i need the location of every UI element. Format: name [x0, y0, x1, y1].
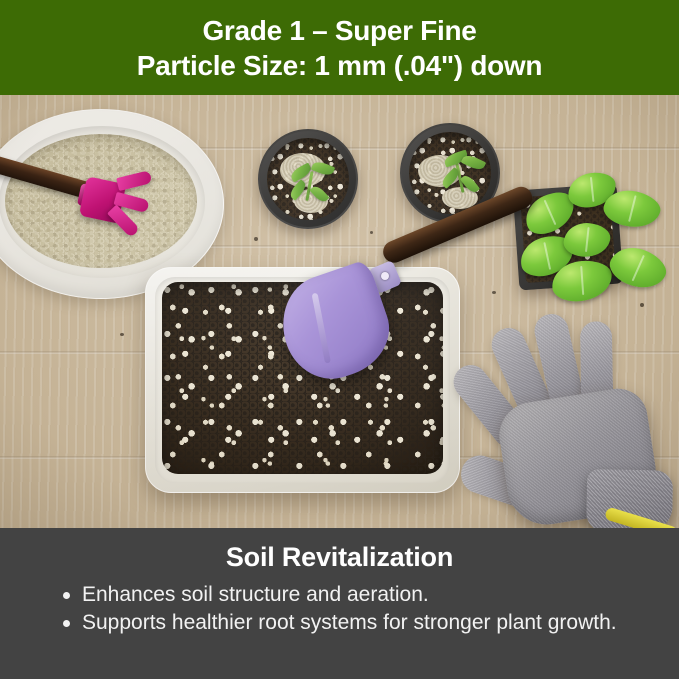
- basil-plant: [506, 165, 666, 325]
- leaf-vein: [543, 242, 550, 270]
- vermiculite-blend-patch: [280, 432, 334, 464]
- leaf-vein: [632, 254, 645, 280]
- leaf-vein: [590, 177, 594, 202]
- leaf-vein: [580, 266, 584, 296]
- soil-speck: [492, 291, 496, 294]
- benefits-list: Enhances soil structure and aeration. Su…: [18, 581, 661, 638]
- product-photo: [0, 95, 679, 528]
- trowel-crease: [312, 292, 331, 363]
- soil-speck: [370, 231, 373, 234]
- gardening-glove: [453, 294, 679, 528]
- seedling-pot-left: [258, 129, 358, 229]
- leaf-vein: [544, 200, 556, 225]
- header-title-line-2: Particle Size: 1 mm (.04") down: [137, 49, 542, 83]
- basil-leaf: [605, 239, 672, 296]
- glove-yellow-trim: [604, 506, 679, 528]
- leaf-vein: [628, 196, 636, 222]
- header-title-line-1: Grade 1 – Super Fine: [202, 14, 476, 48]
- benefit-item: Enhances soil structure and aeration.: [62, 581, 645, 608]
- product-infographic: Grade 1 – Super Fine Particle Size: 1 mm…: [0, 0, 679, 679]
- leaf-vein: [585, 227, 589, 252]
- soil-speck: [254, 237, 258, 241]
- soil-speck: [120, 333, 124, 336]
- trowel-rivet: [381, 272, 389, 280]
- rake-tine: [116, 170, 152, 191]
- benefits-panel: Soil Revitalization Enhances soil struct…: [0, 528, 679, 679]
- benefits-title: Soil Revitalization: [226, 542, 453, 573]
- vermiculite-blend-patch: [322, 400, 384, 442]
- header-banner: Grade 1 – Super Fine Particle Size: 1 mm…: [0, 0, 679, 95]
- benefit-item: Supports healthier root systems for stro…: [62, 609, 645, 636]
- vermiculite-blend-patch: [184, 334, 262, 392]
- glove-cuff: [586, 469, 673, 528]
- vermiculite-blend-patch: [224, 386, 296, 434]
